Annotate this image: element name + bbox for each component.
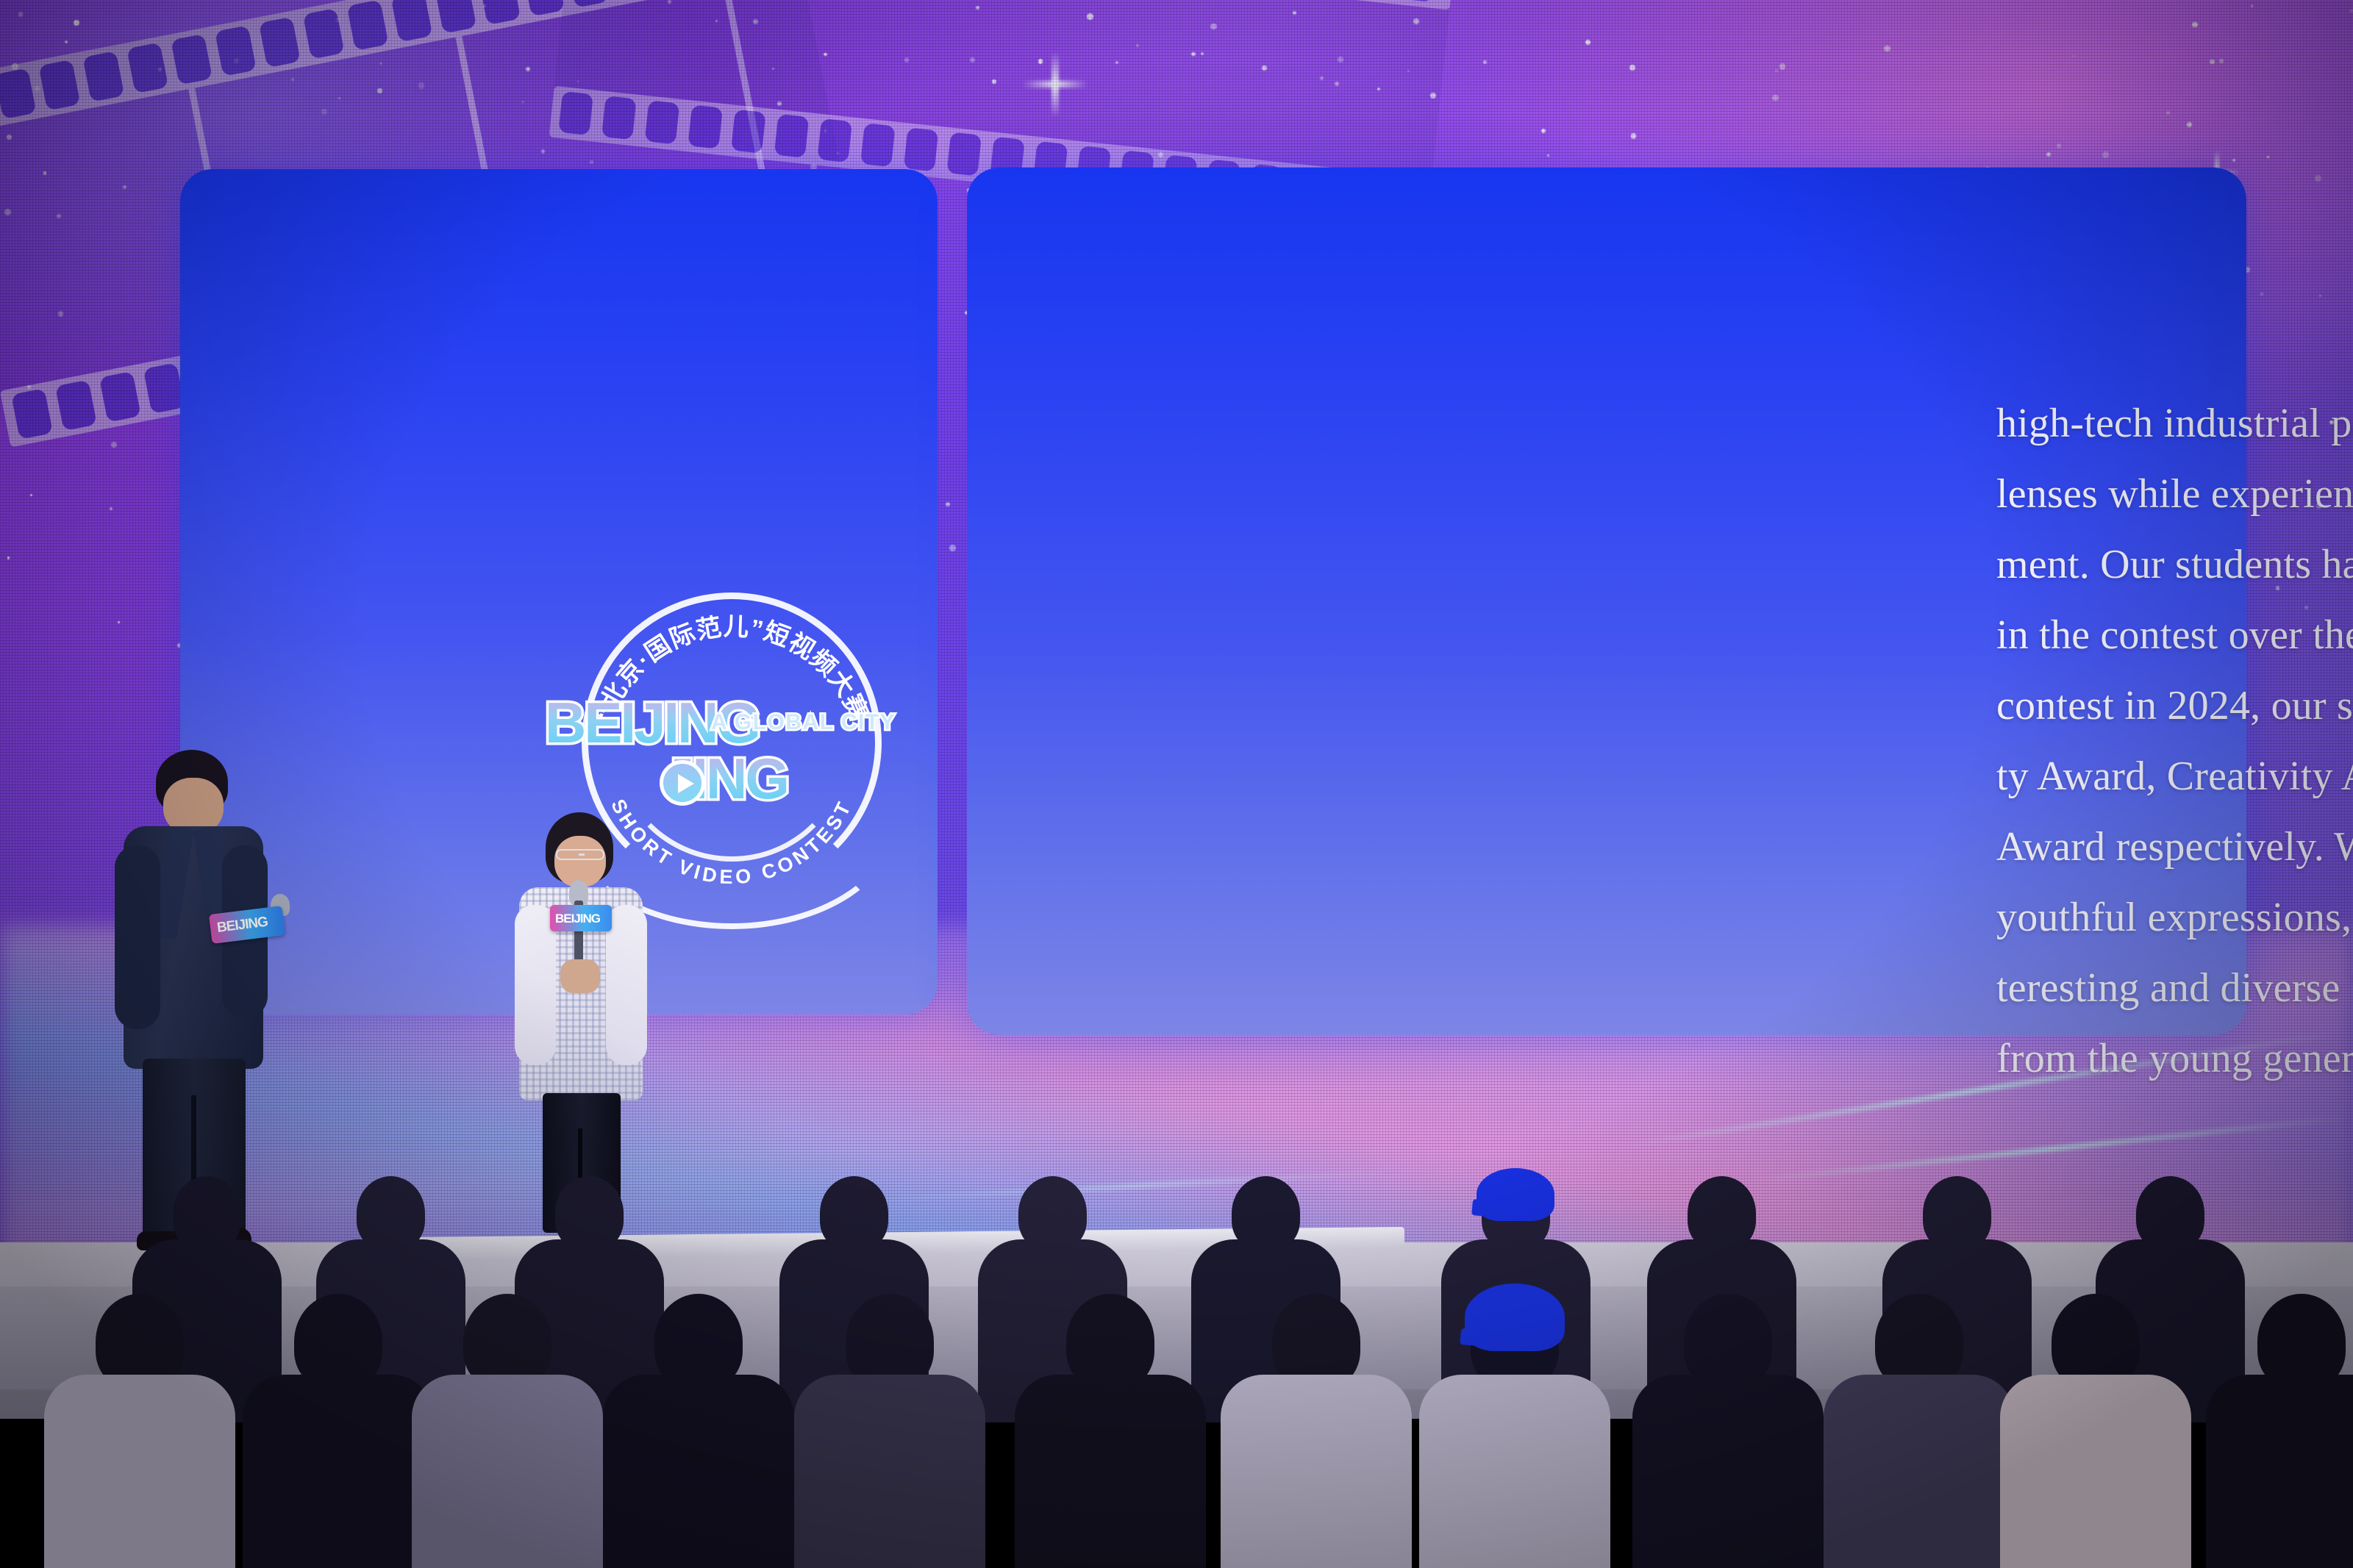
audience-body <box>412 1375 603 1568</box>
star-dot <box>2073 55 2075 57</box>
text-panel: high-tech industrial parks in Beijing th… <box>967 168 2246 1035</box>
guest-speaker-figure: BEIJING <box>515 812 647 1224</box>
star-dot <box>2192 22 2197 27</box>
guest-hands <box>560 959 600 993</box>
star-dot <box>2057 143 2062 148</box>
audience-body <box>794 1375 985 1568</box>
star-dot <box>2267 156 2269 158</box>
star-dot <box>2046 152 2052 157</box>
star-dot <box>18 12 24 17</box>
film-sprocket-hole <box>860 123 896 167</box>
play-button-icon <box>660 760 705 806</box>
film-sprocket-hole <box>601 96 637 140</box>
star-dot <box>65 40 68 43</box>
body-text-line: lenses while experiencing the city's vig… <box>1996 459 2353 529</box>
star-dot <box>2166 111 2170 115</box>
guest-mic-flag-label: BEIJING <box>555 912 600 926</box>
body-text-line: ty Award, Creativity Award, and Communic… <box>1996 741 2353 812</box>
audience-baseball-cap <box>1477 1168 1554 1221</box>
audience-body <box>1632 1375 1824 1568</box>
body-text-line: from the young generation's perspective. <box>1996 1023 2353 1094</box>
star-dot <box>2315 175 2321 182</box>
body-text-line: Award respectively. With imaginative cre… <box>1996 812 2353 882</box>
audience-body <box>2206 1375 2353 1568</box>
film-sprocket-hole <box>645 100 680 144</box>
audience-body <box>2000 1375 2191 1568</box>
star-dot <box>1585 40 1590 45</box>
audience-body <box>1824 1375 2015 1568</box>
star-dot <box>118 621 120 623</box>
star-dot <box>30 494 32 496</box>
star-dot <box>2349 10 2352 12</box>
film-sprocket-hole <box>774 114 810 158</box>
star-dot <box>2187 122 2192 127</box>
host-cue-card-label: BEIJING <box>216 914 268 937</box>
stage-scene: “北京·国际范儿”短视频大赛 SHORT VIDEO CONTEST B <box>0 0 2353 1568</box>
star-dot <box>1629 65 1635 71</box>
star-dot <box>946 502 950 506</box>
star-dot <box>2319 295 2321 297</box>
star-dot <box>1772 95 1778 101</box>
star-dot <box>74 20 79 26</box>
guest-arm-left <box>515 905 556 1065</box>
star-dot <box>1541 129 1546 133</box>
audience-body <box>1221 1375 1412 1568</box>
host-arm-left <box>115 845 160 1029</box>
film-sprocket-hole <box>817 118 852 162</box>
body-text-line: youthful expressions, students have inte… <box>1996 882 2353 953</box>
star-dot <box>2232 159 2235 162</box>
star-dot <box>1483 60 1486 63</box>
host-figure: BEIJING <box>110 750 272 1250</box>
body-text-line: ment. Our students have achieved remarka… <box>1996 529 2353 600</box>
logo-wordmark-group: BEIJING A GLOBAL CITY JING <box>543 694 911 819</box>
presentation-body-text: high-tech industrial parks in Beijing th… <box>1996 388 2353 1094</box>
star-dot <box>110 507 113 510</box>
star-dot <box>2102 151 2109 158</box>
audience-body <box>44 1375 235 1568</box>
star-dot <box>2260 293 2263 296</box>
film-sprocket-hole <box>558 91 593 135</box>
guest-arm-right <box>606 905 647 1065</box>
guest-mic-flag: BEIJING <box>550 905 612 931</box>
star-dot <box>1631 133 1636 138</box>
audience-body <box>1419 1375 1610 1568</box>
film-sprocket-hole <box>946 132 982 176</box>
audience-baseball-cap <box>1465 1284 1565 1351</box>
star-dot <box>949 545 955 551</box>
star-dot <box>1775 69 1778 72</box>
film-sprocket-hole <box>688 105 723 149</box>
body-text-line: teresting and diverse "international cha… <box>1996 953 2353 1023</box>
body-text-line: in the contest over the years. In the 4t… <box>1996 600 2353 670</box>
star-dot <box>1884 46 1890 51</box>
star-dot <box>2251 4 2254 7</box>
audience-body <box>603 1375 794 1568</box>
film-sprocket-hole <box>904 127 939 171</box>
body-text-line: high-tech industrial parks in Beijing th… <box>1996 388 2353 459</box>
logo-tagline: A GLOBAL CITY <box>711 710 896 734</box>
film-sprocket-hole <box>731 110 766 154</box>
guest-glasses <box>556 849 604 860</box>
star-dot <box>2219 59 2224 63</box>
star-dot <box>1547 154 1549 157</box>
star-dot <box>7 556 10 559</box>
body-text-line: contest in 2024, our students' works won… <box>1996 670 2353 741</box>
star-dot <box>1779 63 1786 70</box>
audience-body <box>243 1375 434 1568</box>
star-dot <box>2210 60 2215 65</box>
audience-body <box>1015 1375 1206 1568</box>
